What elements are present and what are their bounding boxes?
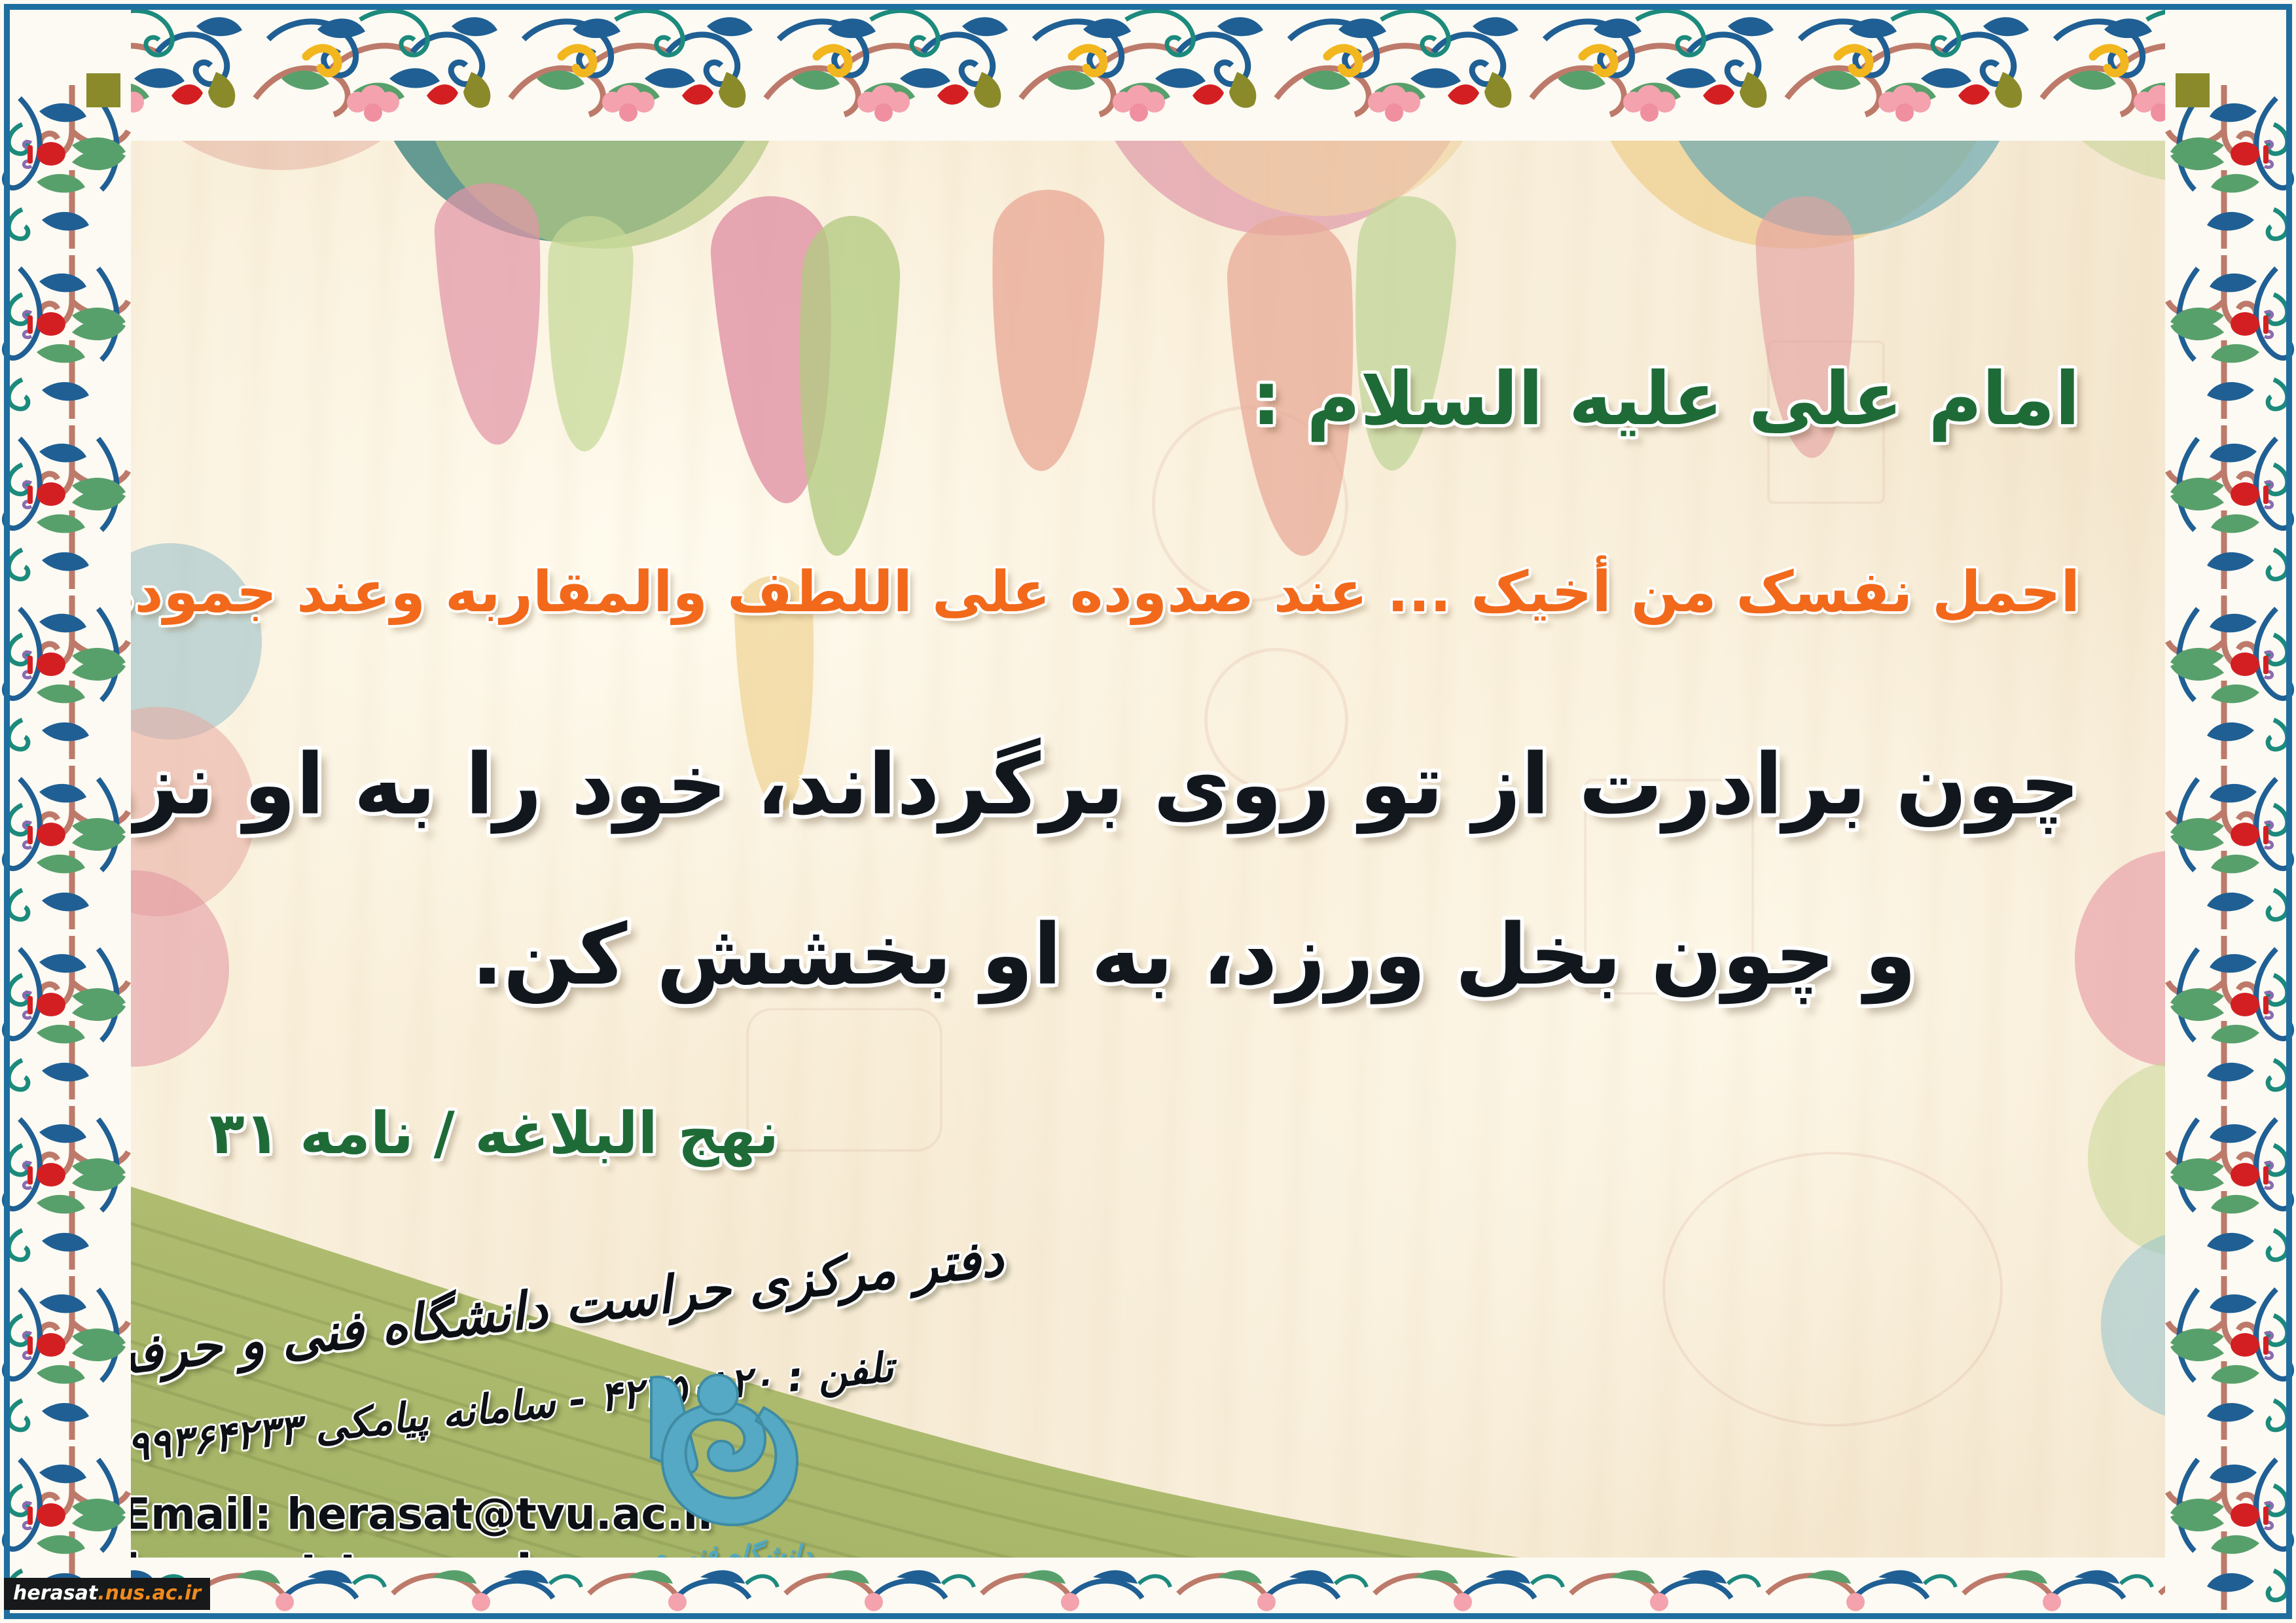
source-watermark: herasat.nus.ac.ir <box>4 1578 210 1610</box>
blue-frame-border <box>4 4 2292 1619</box>
watermark-domain: .nus.ac.ir <box>98 1582 201 1605</box>
hadith-poster: امام علی علیه السلام : احمل نفسک من أخیک… <box>0 0 2296 1623</box>
watermark-name: herasat <box>13 1582 98 1605</box>
